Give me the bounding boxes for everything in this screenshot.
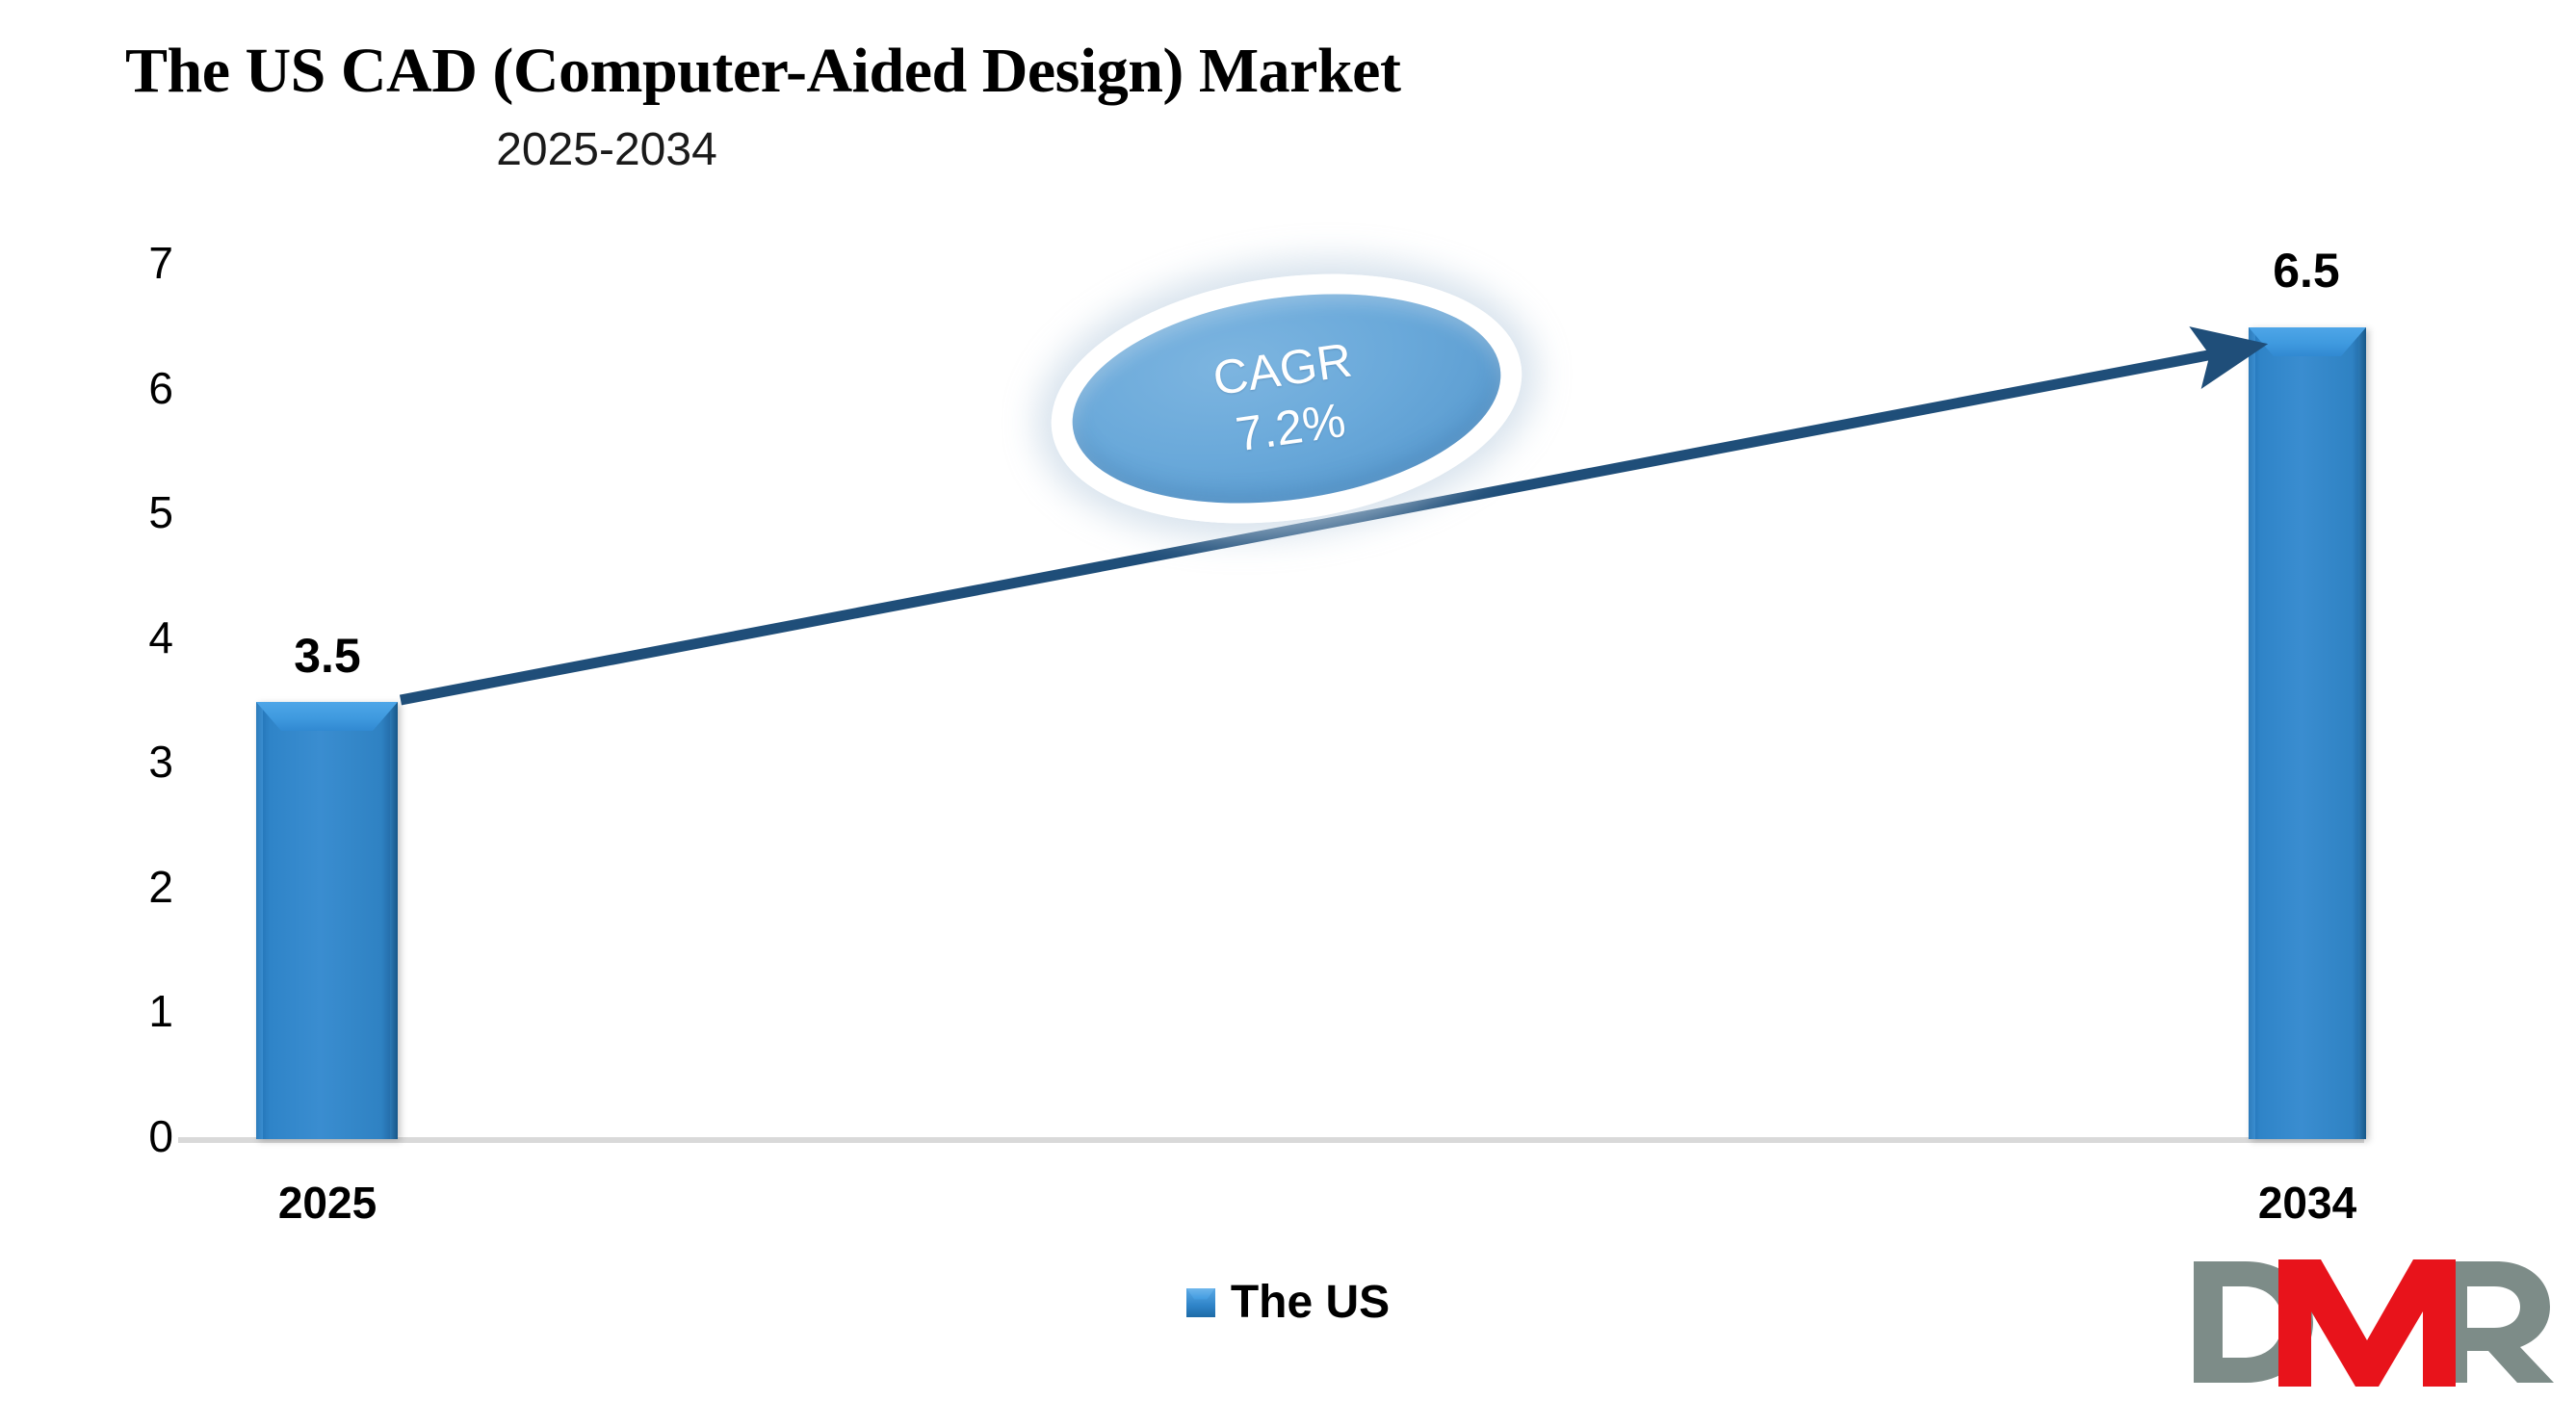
plot-area: 7 6 5 4 3 2 1 0 3.5 6.5 2025 2034 [0, 0, 2576, 1401]
y-axis-tick-4: 4 [87, 615, 173, 660]
y-axis-tick-6: 6 [87, 366, 173, 410]
dmr-logo-letter-m [2278, 1259, 2456, 1387]
bar-right-edge [390, 702, 398, 1139]
y-axis-tick-0: 0 [87, 1114, 173, 1158]
bar-top-bevel [2249, 327, 2366, 356]
bar-right-edge [2358, 327, 2366, 1139]
x-axis-tick-2025: 2025 [183, 1177, 472, 1229]
legend-label-the-us: The US [1231, 1276, 1390, 1329]
bar-value-label-2025: 3.5 [183, 628, 472, 684]
y-axis-tick-2: 2 [87, 865, 173, 909]
y-axis-tick-5: 5 [87, 490, 173, 534]
legend-swatch-the-us [1186, 1288, 1215, 1317]
chart-canvas: The US CAD (Computer-Aided Design) Marke… [0, 0, 2576, 1401]
y-axis-tick-7: 7 [87, 241, 173, 285]
bar-2034[interactable] [2249, 327, 2366, 1139]
cagr-badge: CAGR 7.2% [1035, 246, 1538, 552]
bar-left-edge [256, 702, 263, 1139]
y-axis-tick-3: 3 [87, 739, 173, 784]
dmr-logo [2186, 1252, 2557, 1396]
bar-2025[interactable] [256, 702, 398, 1139]
bar-left-edge [2249, 327, 2255, 1139]
x-axis-tick-2034: 2034 [2163, 1177, 2452, 1229]
x-axis-line [178, 1137, 2364, 1143]
bar-top-bevel [256, 702, 398, 731]
y-axis-tick-1: 1 [87, 989, 173, 1033]
bar-value-label-2034: 6.5 [2162, 243, 2451, 298]
